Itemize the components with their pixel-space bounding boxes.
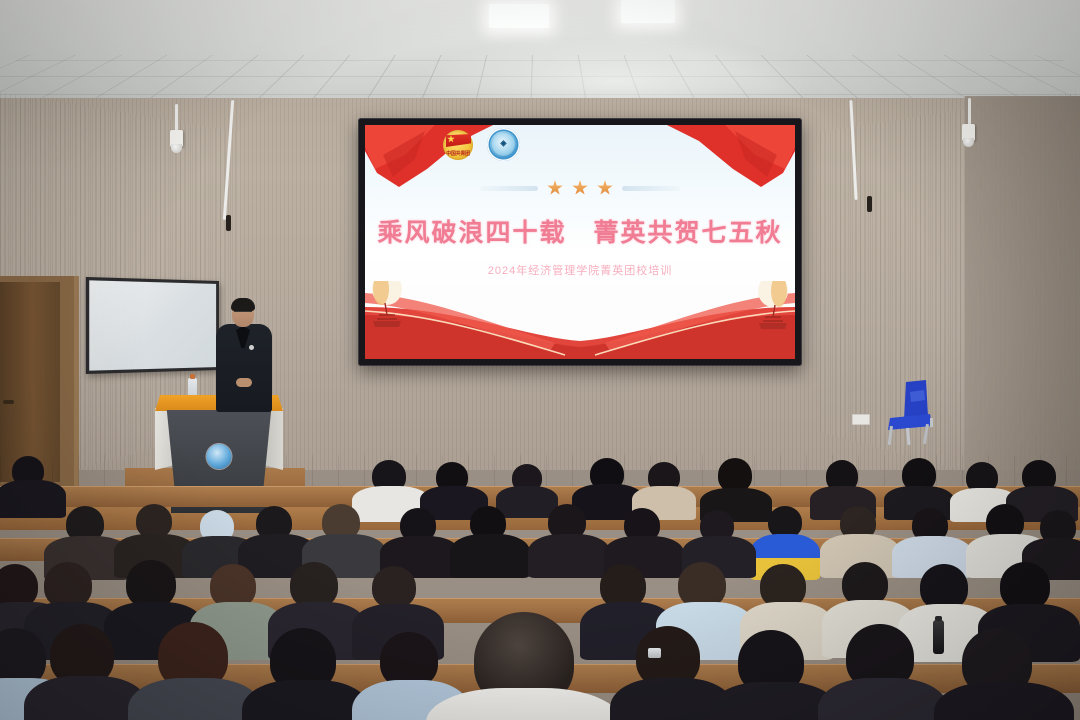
attendee-torso	[450, 534, 530, 578]
attendee-torso	[818, 678, 948, 720]
presenter-hair	[231, 298, 255, 311]
stars-decoration-row	[365, 177, 795, 199]
presenter	[214, 300, 274, 412]
right-wall-shadow	[965, 96, 1080, 486]
presenter-hands	[236, 378, 252, 387]
star-icon	[572, 180, 588, 196]
bottle-cap	[190, 374, 195, 379]
security-camera-icon	[962, 124, 975, 141]
attendee-torso	[496, 486, 558, 518]
ceiling-cable	[968, 98, 971, 126]
blue-plastic-chair[interactable]	[880, 378, 946, 446]
dark-water-bottle[interactable]	[933, 620, 944, 654]
whiteboard	[86, 277, 219, 374]
ceiling-light-panel	[621, 0, 675, 23]
star-icon	[547, 180, 563, 196]
slide-title: 乘风破浪四十载 菁英共贺七五秋	[365, 213, 795, 249]
security-camera-icon	[170, 130, 183, 147]
presentation-slide: 中国共青团 ◈ 乘风破浪四十载 菁英共贺七五秋 2024年经济管理学院菁英团校培…	[365, 125, 795, 359]
attendee-head	[136, 504, 172, 538]
emblem-youth-label: 中国共青团	[443, 150, 473, 157]
whiteboard-sheen	[89, 280, 216, 370]
door-handle[interactable]	[3, 400, 14, 404]
lecture-hall-photo: 中国共青团 ◈ 乘风破浪四十载 菁英共贺七五秋 2024年经济管理学院菁英团校培…	[0, 0, 1080, 720]
bottle-cap	[935, 616, 942, 621]
attendee-torso	[934, 682, 1074, 720]
star-icon	[597, 180, 613, 196]
university-emblem: ◈	[487, 128, 520, 161]
red-wave-decoration	[365, 281, 795, 359]
attendee-head	[718, 458, 752, 492]
slide-subtitle: 2024年经济管理学院菁英团校培训	[365, 262, 795, 278]
attendee-torso	[528, 534, 610, 578]
attendee-head	[1000, 562, 1050, 610]
attendee-torso	[0, 480, 66, 518]
ceiling-light-panel	[489, 4, 549, 28]
attendee-head	[372, 566, 416, 608]
attendee-torso	[242, 680, 370, 720]
attendee-head	[126, 560, 176, 608]
presenter-glasses	[234, 311, 252, 315]
led-display-screen[interactable]: 中国共青团 ◈ 乘风破浪四十载 菁英共贺七五秋 2024年经济管理学院菁英团校培…	[358, 118, 802, 366]
wall-outlet[interactable]	[852, 414, 870, 425]
white-hair-clip	[648, 648, 661, 658]
decorative-line	[480, 186, 538, 191]
presenter-badge	[249, 345, 254, 350]
audience-seating	[0, 452, 1080, 720]
emblem-glyph: ◈	[500, 139, 506, 148]
cable-tip	[226, 215, 231, 231]
decorative-line	[622, 186, 680, 191]
cable-tip	[867, 196, 872, 212]
communist-youth-league-emblem: 中国共青团	[443, 130, 473, 160]
